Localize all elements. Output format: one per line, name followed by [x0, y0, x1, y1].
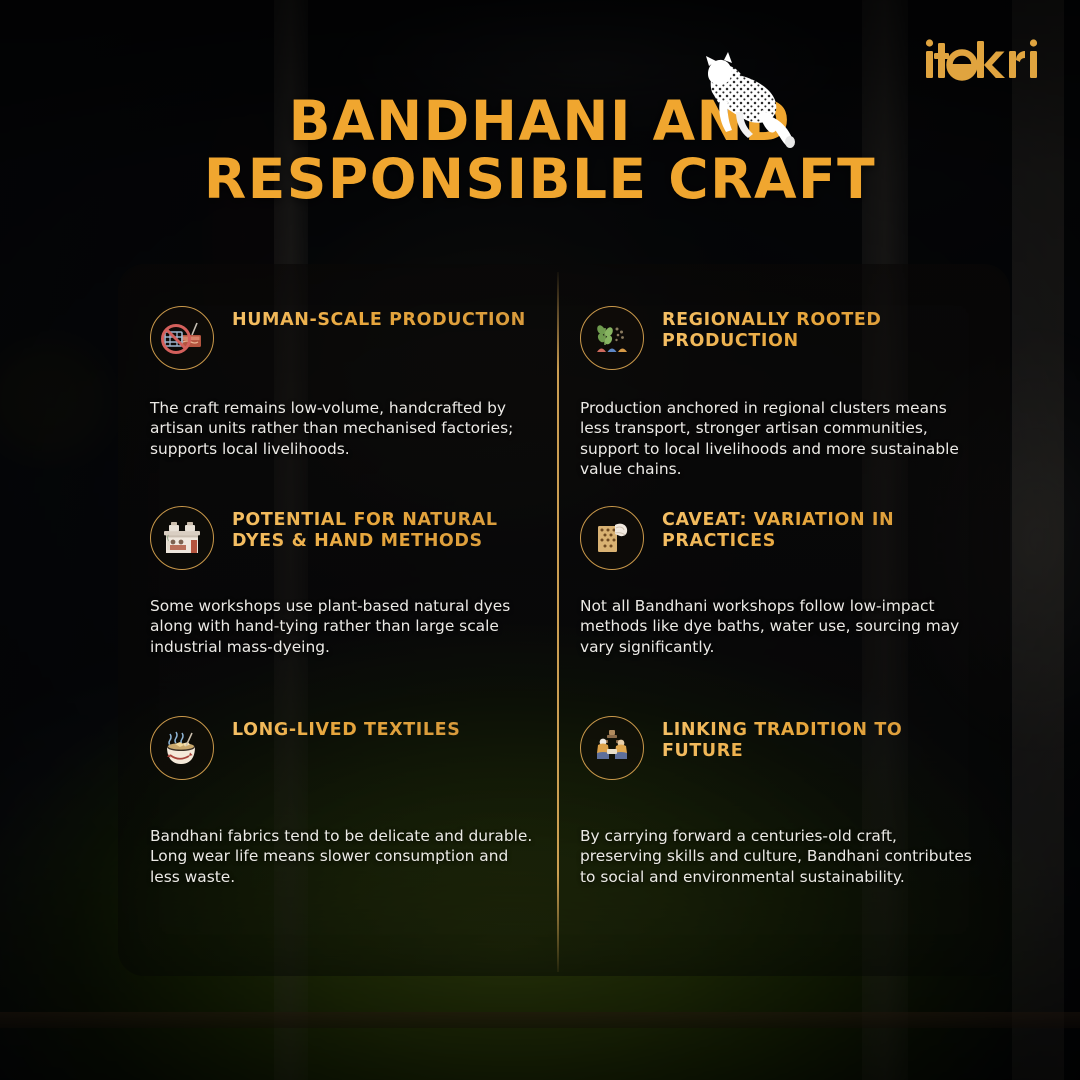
card-regionally-rooted-production[interactable]: REGIONALLY ROOTED PRODUCTION Production …	[580, 306, 990, 480]
workshop-building-icon	[150, 506, 214, 570]
infographic-canvas: itokri BANDHANI AND RESPONSIBLE CRAFT	[0, 0, 1080, 1080]
no-factory-icon	[150, 306, 214, 370]
card-body: Not all Bandhani workshops follow low-im…	[580, 596, 972, 657]
title-line-2: RESPONSIBLE CRAFT	[0, 150, 1080, 208]
card-header: LINKING TRADITION TO FUTURE	[580, 716, 990, 780]
card-caveat-variation-in-practices[interactable]: CAVEAT: VARIATION IN PRACTICES Not all B…	[580, 506, 990, 657]
features-grid: HUMAN-SCALE PRODUCTION The craft remains…	[118, 264, 1010, 976]
card-title: REGIONALLY ROOTED PRODUCTION	[662, 310, 962, 353]
card-title: HUMAN-SCALE PRODUCTION	[232, 310, 526, 331]
page-title: BANDHANI AND RESPONSIBLE CRAFT	[0, 92, 1080, 209]
card-title: LONG-LIVED TEXTILES	[232, 720, 460, 741]
card-body: By carrying forward a centuries-old craf…	[580, 826, 972, 887]
card-linking-tradition-to-future[interactable]: LINKING TRADITION TO FUTURE By carrying …	[580, 716, 990, 887]
card-title: CAVEAT: VARIATION IN PRACTICES	[662, 510, 962, 553]
card-header: REGIONALLY ROOTED PRODUCTION	[580, 306, 990, 370]
itokri-wordmark-icon	[924, 38, 1040, 82]
card-title: POTENTIAL FOR NATURAL DYES & HAND METHOD…	[232, 510, 532, 553]
card-body: Production anchored in regional clusters…	[580, 398, 972, 480]
steaming-dye-pot-icon	[150, 716, 214, 780]
card-header: CAVEAT: VARIATION IN PRACTICES	[580, 506, 990, 570]
card-human-scale-production[interactable]: HUMAN-SCALE PRODUCTION The craft remains…	[150, 306, 560, 459]
leopard-cat-icon	[690, 52, 800, 157]
card-long-lived-textiles[interactable]: LONG-LIVED TEXTILES Bandhani fabrics ten…	[150, 716, 560, 887]
sprout-and-dye-mounds-icon	[580, 306, 644, 370]
card-body: Bandhani fabrics tend to be delicate and…	[150, 826, 542, 887]
card-potential-for-natural-dyes[interactable]: POTENTIAL FOR NATURAL DYES & HAND METHOD…	[150, 506, 560, 657]
card-title: LINKING TRADITION TO FUTURE	[662, 720, 962, 763]
card-header: HUMAN-SCALE PRODUCTION	[150, 306, 560, 370]
two-artisans-icon	[580, 716, 644, 780]
title-block: BANDHANI AND RESPONSIBLE CRAFT	[0, 92, 1080, 209]
brand-logo[interactable]: itokri	[924, 38, 1040, 82]
card-body: Some workshops use plant-based natural d…	[150, 596, 542, 657]
card-header: LONG-LIVED TEXTILES	[150, 716, 560, 780]
hand-holding-patterned-fabric-icon	[580, 506, 644, 570]
card-body: The craft remains low-volume, handcrafte…	[150, 398, 542, 459]
card-header: POTENTIAL FOR NATURAL DYES & HAND METHOD…	[150, 506, 560, 570]
